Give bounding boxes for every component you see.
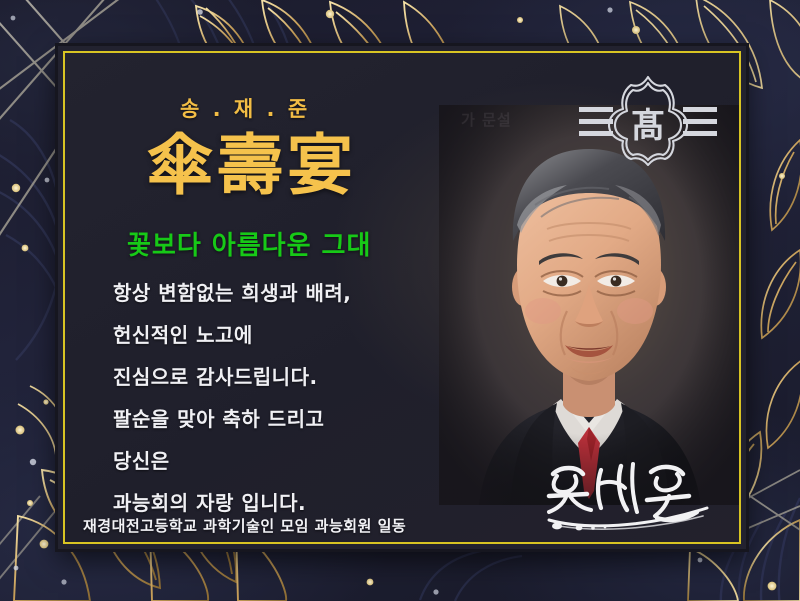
message-line: 헌신적인 노고에 xyxy=(113,325,443,345)
honoree-name: 송 . 재 . 준 xyxy=(180,93,310,123)
message-line: 과능회의 자랑 입니다. xyxy=(113,493,443,513)
card-inner-frame: 가 문설 xyxy=(63,51,741,544)
school-emblem: 髙 xyxy=(573,71,723,166)
invitation-card-page: 가 문설 xyxy=(0,0,800,601)
dark-vein-group-left xyxy=(0,120,62,360)
leaf-cluster-right xyxy=(761,140,800,448)
sender-footer: 재경대전고등학교 과학기술인 모임 과능회원 일동 xyxy=(83,515,406,536)
diagonal-strokes-bottom-left xyxy=(0,496,66,590)
message-line: 항상 변함없는 희생과 배려, xyxy=(113,283,443,303)
page-title: 傘壽宴 xyxy=(147,133,357,199)
message-line: 당신은 xyxy=(113,451,443,471)
school-emblem-icon: 髙 xyxy=(573,71,723,166)
message-line: 진심으로 감사드립니다. xyxy=(113,367,443,387)
emblem-character: 髙 xyxy=(631,106,665,146)
message-body: 항상 변함없는 희생과 배려, 헌신적인 노고에 진심으로 감사드립니다. 팔순… xyxy=(113,283,443,535)
subtitle: 꽃보다 아름다운 그대 xyxy=(127,225,371,262)
portrait-watermark: 가 문설 xyxy=(461,109,512,130)
message-line: 팔순을 맞아 축하 드리고 xyxy=(113,409,443,429)
signature-calligraphy-icon xyxy=(535,456,725,534)
invitation-card: 가 문설 xyxy=(58,46,746,549)
signature xyxy=(535,456,725,534)
